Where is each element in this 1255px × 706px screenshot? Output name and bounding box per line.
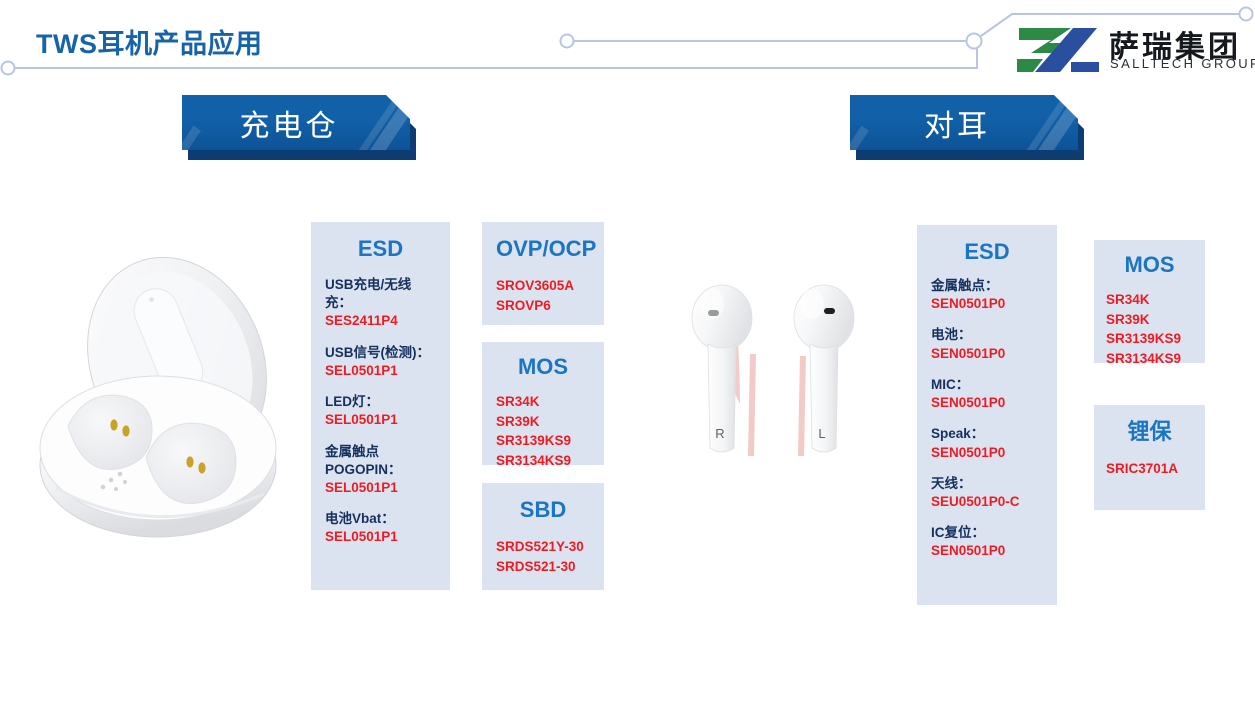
spec-entry: USB信号(检测)： SEL0501P1: [325, 344, 436, 380]
card-body: USB充电/无线充： SES2411P4 USB信号(检测)： SEL0501P…: [325, 276, 436, 547]
card-esd-charging-case: ESD USB充电/无线充： SES2411P4 USB信号(检测)： SEL0…: [311, 222, 450, 590]
deco-node-mid: [561, 35, 574, 48]
part-number: SRIC3701A: [1106, 459, 1193, 479]
spec-part: SEN0501P0: [931, 394, 1043, 412]
card-esd-earbuds: ESD 金属触点： SEN0501P0 电池： SEN0501P0 MIC： S…: [917, 225, 1057, 605]
part-number: SR34K: [1106, 290, 1193, 310]
spec-label: 金属触点 POGOPIN：: [325, 443, 436, 479]
slide-canvas: TWS耳机产品应用 萨瑞集团 SALLTECH GROUP 充电仓: [0, 0, 1255, 706]
page-title: TWS耳机产品应用: [36, 22, 263, 61]
part-number: SR39K: [1106, 310, 1193, 330]
spec-entry: 电池Vbat： SEL0501P1: [325, 510, 436, 546]
part-number: SROV3605A: [496, 276, 590, 296]
spec-part: SEL0501P1: [325, 362, 436, 380]
card-body: SRDS521Y-30 SRDS521-30: [496, 537, 590, 576]
spec-entry: 天线： SEU0501P0-C: [931, 475, 1043, 511]
spec-label: USB信号(检测)：: [325, 344, 436, 362]
card-title: ESD: [931, 241, 1043, 263]
svg-text:L: L: [818, 426, 825, 441]
spec-part: SEN0501P0: [931, 542, 1043, 560]
spec-entry: IC复位： SEN0501P0: [931, 524, 1043, 560]
spec-part: SEN0501P0: [931, 295, 1043, 313]
part-number: SROVP6: [496, 296, 590, 316]
charging-case-photo: [30, 250, 302, 555]
spec-part: SEN0501P0: [931, 345, 1043, 363]
spec-label: 金属触点：: [931, 277, 1043, 295]
earbuds-photo: R L: [672, 272, 868, 468]
card-title: ESD: [325, 238, 436, 260]
card-ovp-ocp: OVP/OCP SROV3605A SROVP6: [482, 222, 604, 325]
card-mos-charging-case: MOS SR34K SR39K SR3139KS9 SR3134KS9: [482, 342, 604, 465]
part-number: SR34K: [496, 392, 590, 412]
logo-english-name: SALLTECH GROUP: [1110, 56, 1255, 71]
spec-entry: USB充电/无线充： SES2411P4: [325, 276, 436, 331]
svg-text:R: R: [715, 426, 724, 441]
spec-part: SEN0501P0: [931, 444, 1043, 462]
company-logo: 萨瑞集团 SALLTECH GROUP: [1013, 24, 1245, 76]
spec-part: SEU0501P0-C: [931, 493, 1043, 511]
earbud-right: R: [692, 285, 756, 456]
card-sbd: SBD SRDS521Y-30 SRDS521-30: [482, 483, 604, 590]
spec-label: 电池Vbat：: [325, 510, 436, 528]
spec-part: SEL0501P1: [325, 528, 436, 546]
spec-entry: 电池： SEN0501P0: [931, 326, 1043, 362]
card-mos-earbuds: MOS SR34K SR39K SR3139KS9 SR3134KS9: [1094, 240, 1205, 363]
spec-entry: 金属触点 POGOPIN： SEL0501P1: [325, 443, 436, 498]
spec-label: LED灯：: [325, 393, 436, 411]
card-body: SRIC3701A: [1106, 459, 1193, 479]
spec-entry: MIC： SEN0501P0: [931, 376, 1043, 412]
part-number: SR39K: [496, 412, 590, 432]
part-number: SR3134KS9: [1106, 349, 1193, 369]
spec-entry: 金属触点： SEN0501P0: [931, 277, 1043, 313]
part-number: SR3139KS9: [496, 431, 590, 451]
spec-label: USB充电/无线充：: [325, 276, 436, 312]
spec-label: MIC：: [931, 376, 1043, 394]
card-title: SBD: [496, 499, 590, 521]
section-banner-earbuds: 对耳: [850, 95, 1078, 153]
spec-part: SEL0501P1: [325, 479, 436, 497]
deco-node-right: [1240, 8, 1253, 21]
card-body: SROV3605A SROVP6: [496, 276, 590, 315]
section-banner-label: 对耳: [850, 95, 1078, 150]
deco-node-hub: [967, 34, 982, 49]
spec-part: SES2411P4: [325, 312, 436, 330]
card-body: 金属触点： SEN0501P0 电池： SEN0501P0 MIC： SEN05…: [931, 277, 1043, 561]
section-banner-charging-case: 充电仓: [182, 95, 410, 153]
card-title: MOS: [1106, 254, 1193, 276]
spec-label: IC复位：: [931, 524, 1043, 542]
spec-label: Speak：: [931, 425, 1043, 443]
salltech-logo-mark: [1013, 26, 1103, 74]
part-number: SR3134KS9: [496, 451, 590, 471]
card-title: OVP/OCP: [496, 238, 590, 260]
card-body: SR34K SR39K SR3139KS9 SR3134KS9: [1106, 290, 1193, 368]
spec-entry: Speak： SEN0501P0: [931, 425, 1043, 461]
part-number: SRDS521Y-30: [496, 537, 590, 557]
part-number: SR3139KS9: [1106, 329, 1193, 349]
deco-node-left: [2, 62, 15, 75]
spec-entry: LED灯： SEL0501P1: [325, 393, 436, 429]
spec-label: 天线：: [931, 475, 1043, 493]
card-body: SR34K SR39K SR3139KS9 SR3134KS9: [496, 392, 590, 470]
part-number: SRDS521-30: [496, 557, 590, 577]
card-title: 锂保: [1106, 421, 1193, 443]
card-lithium-protection: 锂保 SRIC3701A: [1094, 405, 1205, 510]
earbud-left: L: [794, 285, 854, 456]
spec-part: SEL0501P1: [325, 411, 436, 429]
card-title: MOS: [496, 356, 590, 378]
section-banner-label: 充电仓: [182, 95, 410, 150]
spec-label: 电池：: [931, 326, 1043, 344]
